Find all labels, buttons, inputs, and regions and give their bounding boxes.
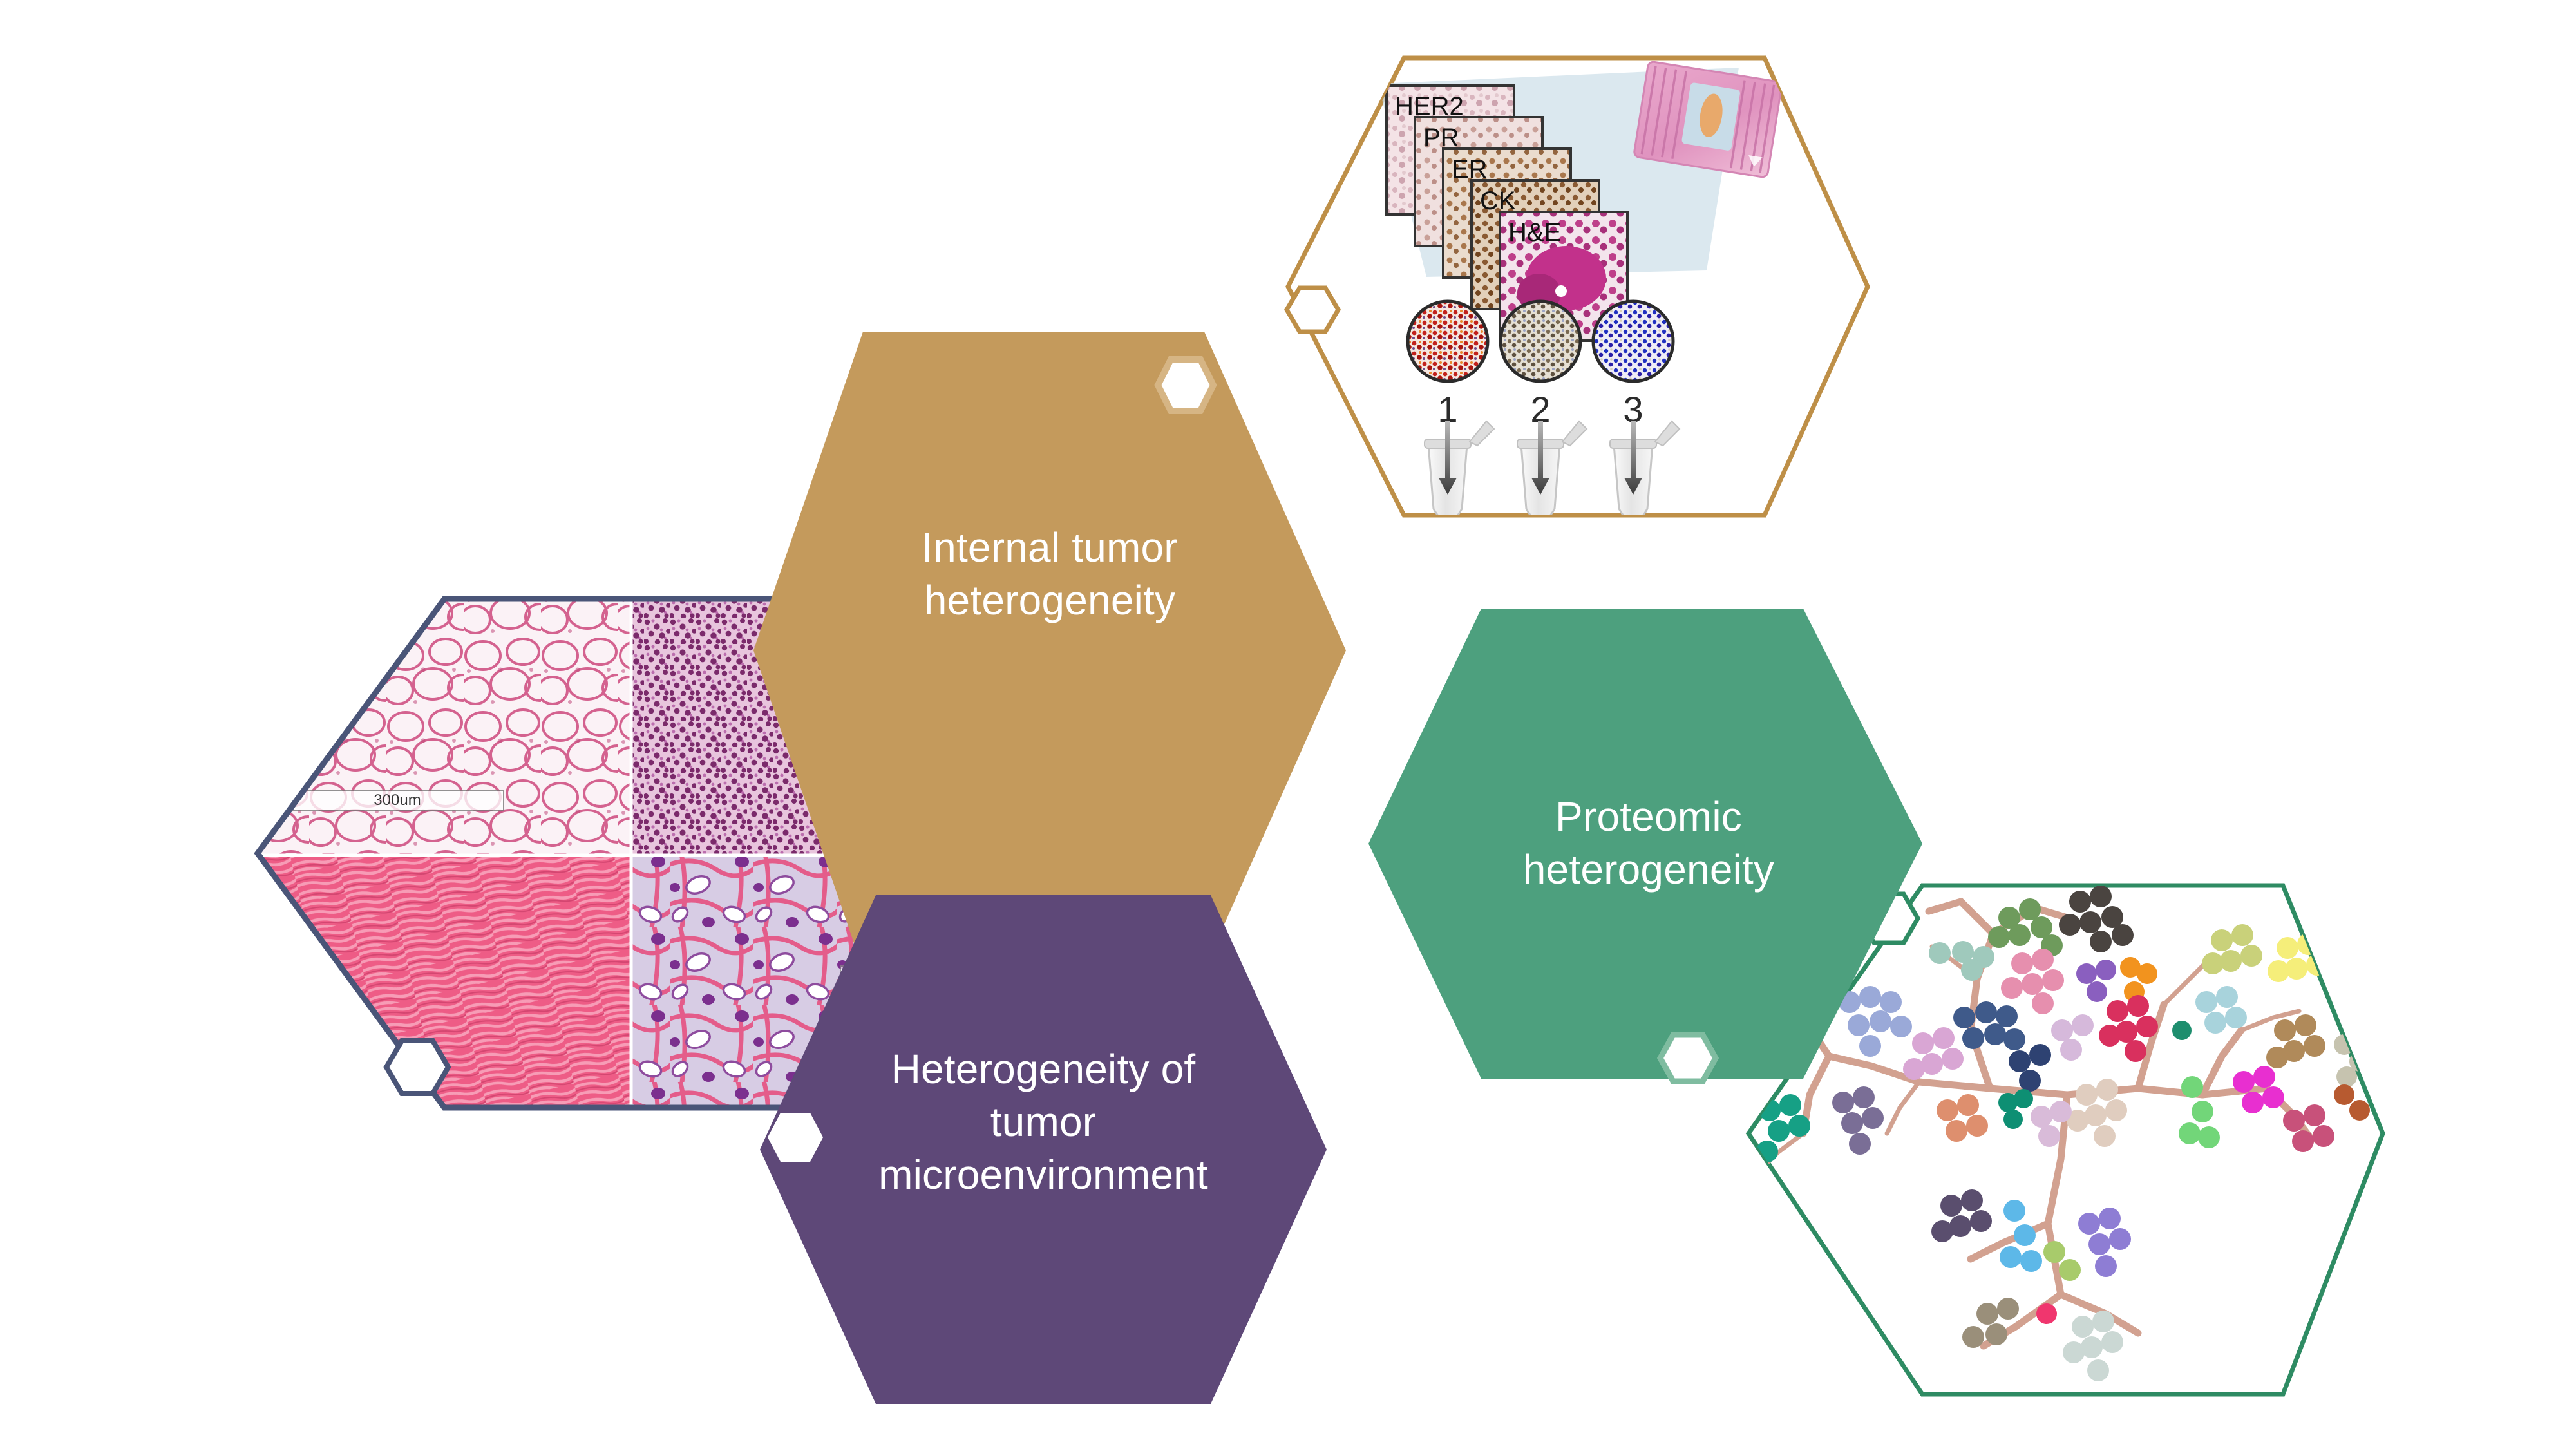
diagram-svg: 300um 300um bbox=[0, 0, 2576, 1449]
figure-canvas: 300um 300um bbox=[0, 0, 2576, 1449]
green-hexagon-badge bbox=[1660, 1035, 1716, 1081]
histology-hexagon-badge bbox=[386, 1041, 448, 1094]
gold-hexagon-shape[interactable] bbox=[753, 332, 1346, 969]
quadrant-adipose bbox=[258, 599, 631, 855]
gold-hexagon[interactable] bbox=[753, 332, 1346, 969]
purple-hexagon[interactable] bbox=[760, 895, 1327, 1404]
tissue-cores: 1 2 3 bbox=[1408, 301, 1673, 430]
gold-hexagon-badge bbox=[1158, 359, 1213, 411]
purple-hexagon-shape[interactable] bbox=[760, 895, 1327, 1404]
ihc-slide-label-he: H&E bbox=[1508, 218, 1561, 247]
paraffin-block bbox=[1634, 61, 1783, 178]
ihc-hexagon-badge bbox=[1287, 288, 1338, 332]
scale-bar-horizontal: 300um bbox=[291, 791, 504, 810]
ihc-workflow-hexagon-panel: HER2 PR ER CK bbox=[1287, 58, 1868, 522]
scale-bar-label-top-left: 300um bbox=[374, 791, 421, 809]
